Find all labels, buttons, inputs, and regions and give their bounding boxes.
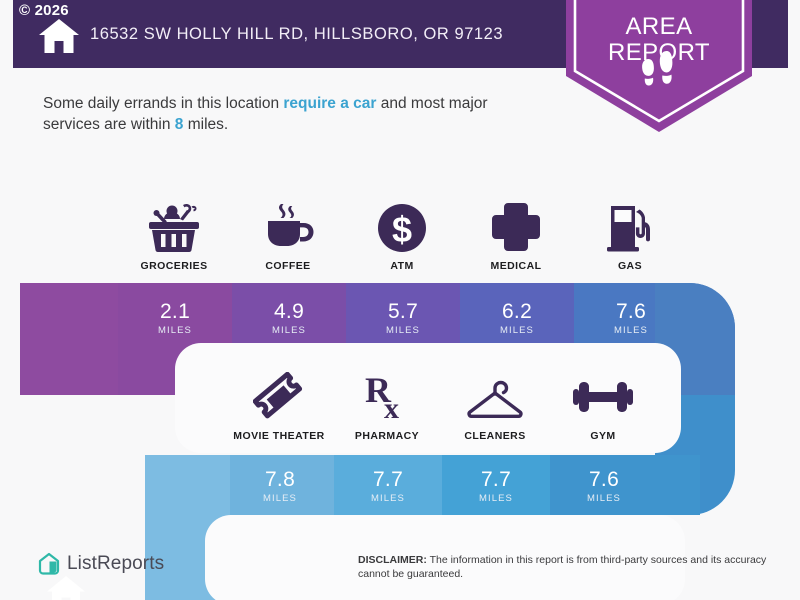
distance-unit: MILES (386, 325, 420, 336)
category-label: CLEANERS (464, 430, 525, 442)
intro-part-1: Some daily errands in this location (43, 95, 283, 112)
disclaimer: DISCLAIMER: The information in this repo… (358, 553, 778, 581)
distance-value: 2.1 (160, 301, 190, 322)
category-label: MOVIE THEATER (233, 430, 324, 442)
distance-unit: MILES (500, 325, 534, 336)
category-cleaners: CLEANERS (441, 370, 549, 442)
distance-value: 5.7 (388, 301, 418, 322)
category-groceries: GROCERIES (117, 200, 231, 272)
home-icon (38, 18, 80, 54)
property-address: 16532 SW HOLLY HILL RD, HILLSBORO, OR 97… (90, 25, 503, 44)
category-movie-theater: MOVIE THEATER (225, 370, 333, 442)
svg-text:$: $ (392, 209, 412, 250)
value-atm: 5.7 MILES (346, 287, 460, 349)
intro-paragraph: Some daily errands in this location requ… (43, 93, 548, 135)
distance-value: 4.9 (274, 301, 304, 322)
category-medical: MEDICAL (459, 200, 573, 272)
value-cleaners: 7.7 MILES (442, 455, 550, 517)
badge-text: AREA REPORT (566, 14, 752, 66)
category-gas: GAS (573, 200, 687, 272)
category-label: GAS (618, 260, 642, 272)
category-icons-row-2: MOVIE THEATER R x PHARMACY CLEANER (225, 370, 687, 442)
badge-line-1: AREA (566, 14, 752, 40)
category-atm: $ ATM (345, 200, 459, 272)
svg-text:x: x (384, 392, 399, 422)
distance-unit: MILES (272, 325, 306, 336)
infographic-canvas: © 2026 16532 SW HOLLY HILL RD, HILLSBORO… (0, 0, 800, 600)
category-label: PHARMACY (355, 430, 419, 442)
value-movie-theater: 7.8 MILES (226, 455, 334, 517)
distance-unit: MILES (614, 325, 648, 336)
category-label: GROCERIES (140, 260, 207, 272)
category-label: COFFEE (265, 260, 310, 272)
distance-values-row-1: 2.1 MILES 4.9 MILES 5.7 MILES 6.2 MILES … (118, 287, 688, 349)
distance-value: 7.6 (589, 469, 619, 490)
gas-pump-icon (605, 202, 655, 252)
copyright-label: © 2026 (19, 2, 69, 19)
logo-text: ListReports (67, 553, 164, 575)
category-icons-row-1: GROCERIES COFFEE $ (117, 200, 687, 272)
value-gym: 7.6 MILES (550, 455, 658, 517)
badge-line-2: REPORT (566, 40, 752, 66)
value-medical: 6.2 MILES (460, 287, 574, 349)
distance-value: 7.8 (265, 469, 295, 490)
home-icon (46, 575, 86, 600)
disclaimer-label: DISCLAIMER: (358, 554, 427, 566)
distance-unit: MILES (479, 493, 513, 504)
dollar-circle-icon: $ (376, 202, 428, 252)
distance-unit: MILES (158, 325, 192, 336)
distance-unit: MILES (263, 493, 297, 504)
category-label: ATM (390, 260, 413, 272)
value-coffee: 4.9 MILES (232, 287, 346, 349)
grocery-basket-icon (147, 202, 201, 252)
category-label: GYM (590, 430, 615, 442)
listreports-logo[interactable]: ListReports (38, 552, 164, 576)
coffee-cup-icon (261, 202, 315, 252)
category-label: MEDICAL (491, 260, 542, 272)
intro-highlight: require a car (283, 95, 376, 112)
value-pharmacy: 7.7 MILES (334, 455, 442, 517)
distance-values-row-2: 7.8 MILES 7.7 MILES 7.7 MILES 7.6 MILES (226, 455, 658, 517)
distance-unit: MILES (371, 493, 405, 504)
distance-value: 6.2 (502, 301, 532, 322)
listreports-house-icon (38, 552, 60, 576)
cell-home (20, 283, 118, 398)
clothes-hanger-icon (466, 372, 524, 422)
rx-icon: R x (364, 372, 410, 422)
distance-value: 7.7 (373, 469, 403, 490)
dumbbell-icon (573, 372, 633, 422)
value-gas: 7.6 MILES (574, 287, 688, 349)
area-report-badge: AREA REPORT (566, 0, 752, 132)
movie-ticket-icon (253, 372, 305, 422)
value-groceries: 2.1 MILES (118, 287, 232, 349)
distance-value: 7.6 (616, 301, 646, 322)
distance-value: 7.7 (481, 469, 511, 490)
medical-cross-icon (491, 202, 541, 252)
intro-part-3: miles. (183, 116, 228, 133)
distance-unit: MILES (587, 493, 621, 504)
category-coffee: COFFEE (231, 200, 345, 272)
category-pharmacy: R x PHARMACY (333, 370, 441, 442)
category-gym: GYM (549, 370, 657, 442)
